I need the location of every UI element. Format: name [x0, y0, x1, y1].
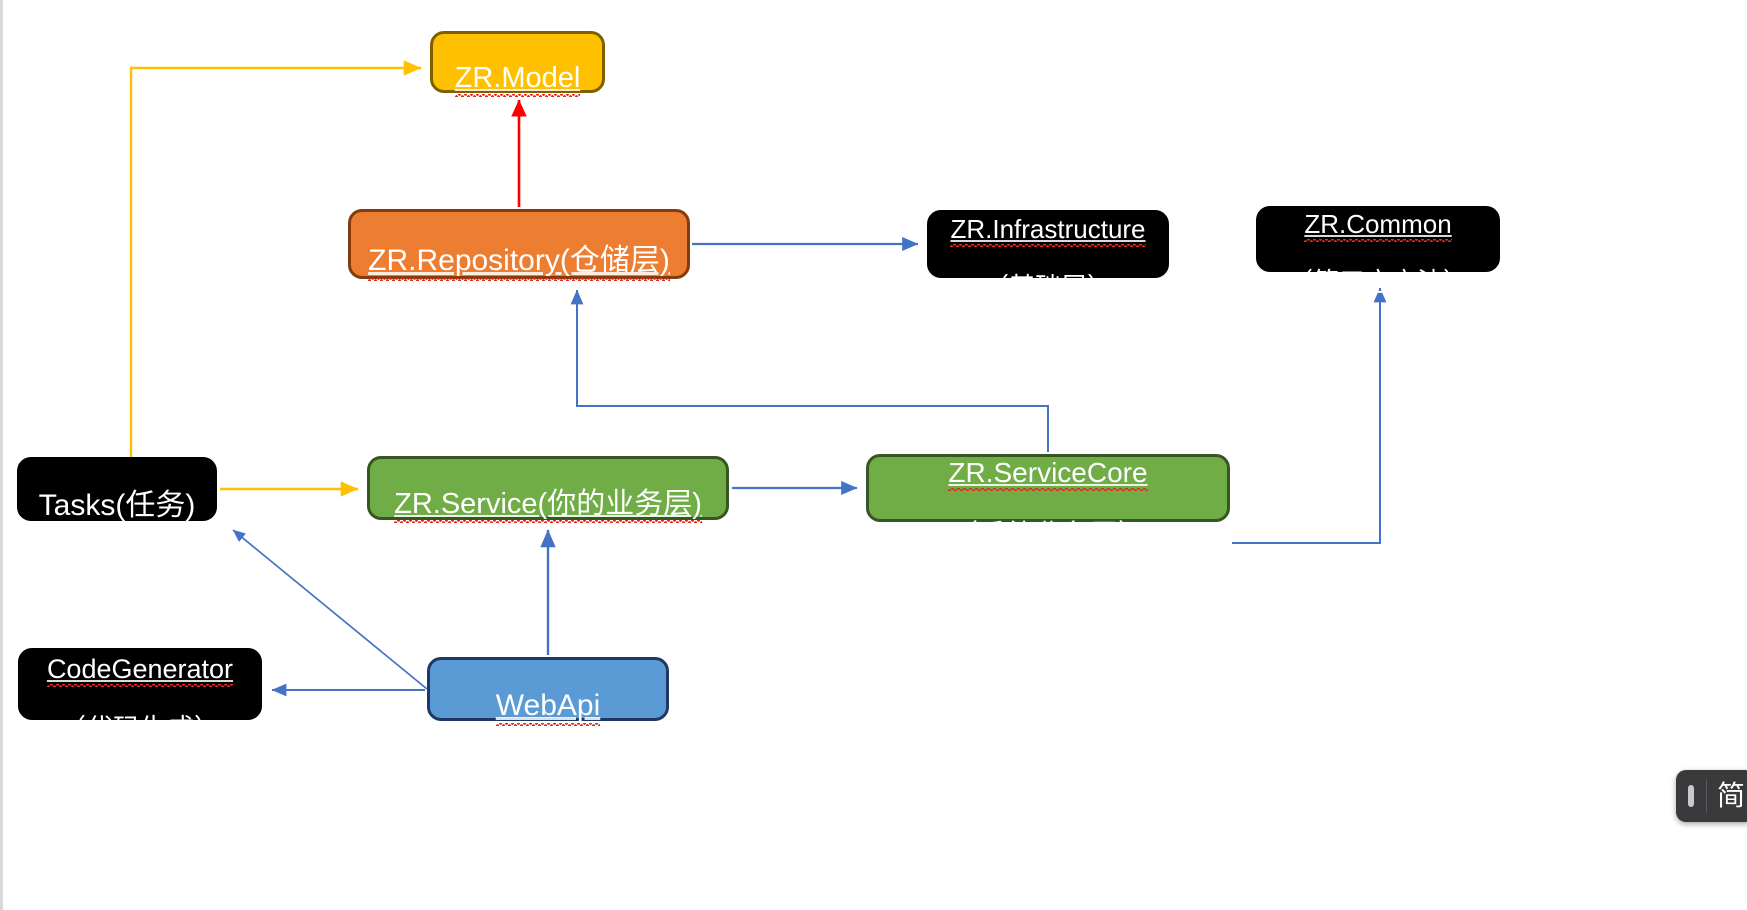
node-webapi[interactable]: WebApi [427, 657, 669, 721]
node-codegenerator-label: CodeGenerator [47, 654, 233, 684]
page-left-rule [0, 0, 3, 910]
ime-cursor-bar-icon [1676, 785, 1706, 807]
node-tasks-label: Tasks(任务) [39, 489, 196, 522]
node-zr-servicecore-label: ZR.ServiceCore [948, 457, 1147, 488]
ime-mode-label: 简 [1707, 782, 1747, 810]
node-codegenerator-sublabel: （代码生成） [59, 714, 221, 744]
node-zr-model[interactable]: ZR.Model [430, 31, 605, 93]
edge-servicecore-to-common [1232, 288, 1380, 543]
node-zr-infrastructure[interactable]: ZR.Infrastructure （基础层） [927, 210, 1169, 278]
node-zr-infrastructure-label: ZR.Infrastructure [950, 215, 1145, 244]
node-zr-repository-label: ZR.Repository(仓储层) [368, 244, 670, 278]
ime-indicator[interactable]: 简 [1676, 770, 1747, 822]
node-zr-service-label: ZR.Service(你的业务层) [394, 488, 702, 520]
node-zr-servicecore[interactable]: ZR.ServiceCore （系统业务层） [866, 454, 1230, 522]
node-codegenerator[interactable]: CodeGenerator （代码生成） [18, 648, 262, 720]
node-zr-infrastructure-sublabel: （基础层） [983, 272, 1113, 302]
edge-webapi-to-tasks [233, 530, 427, 689]
node-zr-model-label: ZR.Model [455, 62, 581, 94]
node-zr-servicecore-sublabel: （系统业务层） [950, 519, 1146, 550]
node-zr-common[interactable]: ZR.Common （第三方方法） [1256, 206, 1500, 272]
node-zr-repository[interactable]: ZR.Repository(仓储层) [348, 209, 690, 279]
node-zr-service[interactable]: ZR.Service(你的业务层) [367, 456, 729, 520]
node-webapi-label: WebApi [496, 689, 601, 723]
diagram-canvas: ZR.Model ZR.Repository(仓储层) ZR.Infrastru… [0, 0, 1747, 910]
node-zr-common-label: ZR.Common [1304, 210, 1451, 239]
node-tasks[interactable]: Tasks(任务) [17, 457, 217, 521]
node-zr-common-sublabel: （第三方方法） [1287, 267, 1469, 297]
